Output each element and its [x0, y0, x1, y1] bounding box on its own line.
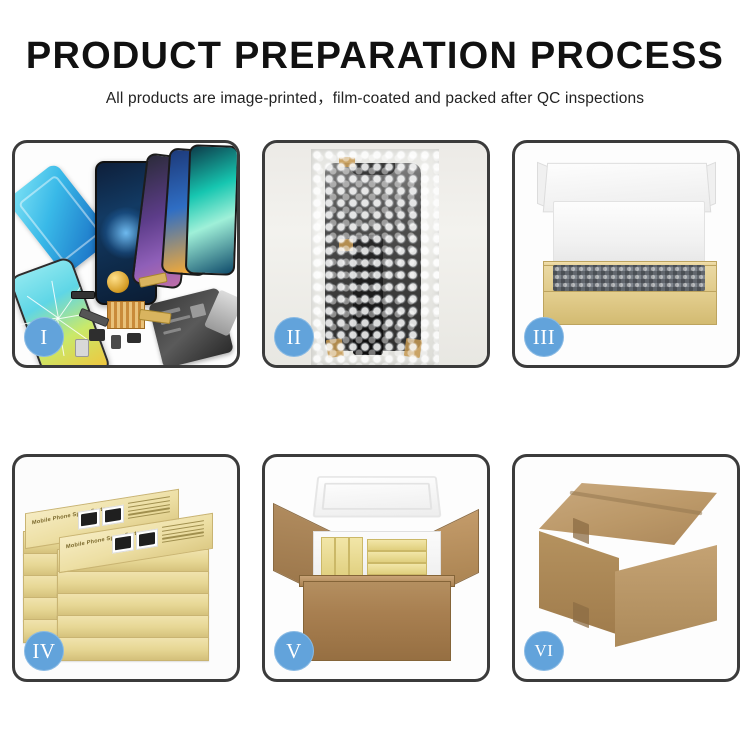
box-label-swatch — [112, 532, 134, 553]
speaker-coil-icon — [107, 271, 129, 293]
yellow-box-item — [367, 539, 427, 551]
small-part-icon — [89, 329, 105, 341]
step-panel-4: Mobile Phone Spare Parts — [12, 454, 240, 682]
page-subtitle: All products are image-printed，film-coat… — [0, 86, 750, 108]
battery-part-icon — [75, 339, 89, 357]
step-badge-2: II — [274, 317, 314, 357]
yellow-box-item — [349, 537, 363, 579]
small-part-icon — [127, 333, 141, 343]
kraft-box-front-icon — [543, 291, 717, 325]
steps-row-bottom: Mobile Phone Spare Parts — [12, 454, 742, 682]
stacked-box — [57, 593, 209, 617]
flex-cable-icon — [71, 291, 95, 299]
foam-lid-icon — [312, 476, 441, 517]
step-badge-1: I — [24, 317, 64, 357]
stacked-box — [57, 637, 209, 661]
bubble-texture-icon — [311, 149, 439, 365]
step-panel-3: III — [512, 140, 740, 368]
step-badge-3: III — [524, 317, 564, 357]
step-badge-5: V — [274, 631, 314, 671]
carton-right-face-icon — [615, 545, 717, 647]
step-panel-1: I — [12, 140, 240, 368]
box-label-swatch — [78, 508, 100, 529]
phone-teal-icon — [185, 144, 237, 276]
step-panel-2: II — [262, 140, 490, 368]
step-panel-6: VI — [512, 454, 740, 682]
box-label-lines — [162, 520, 204, 549]
step-panel-5: V — [262, 454, 490, 682]
box-label-swatch — [136, 529, 158, 550]
yellow-box-item — [335, 537, 349, 579]
small-part-icon — [111, 335, 121, 349]
yellow-box-item — [321, 537, 335, 579]
box-label-swatch — [102, 505, 124, 526]
yellow-box-item — [367, 563, 427, 575]
header: PRODUCT PREPARATION PROCESS All products… — [0, 34, 750, 108]
page-title: PRODUCT PREPARATION PROCESS — [0, 34, 750, 78]
product-preparation-infographic: PRODUCT PREPARATION PROCESS All products… — [0, 0, 750, 750]
stacked-box — [57, 615, 209, 639]
crack-lines-icon — [58, 318, 59, 319]
step-badge-6: VI — [524, 631, 564, 671]
carton-seam-icon — [569, 487, 703, 533]
carton-body-icon — [303, 581, 451, 661]
yellow-box-item — [367, 551, 427, 563]
stacked-box — [57, 571, 209, 595]
steps-grid: I II — [12, 140, 742, 682]
steps-row-top: I II — [12, 140, 742, 368]
bubble-wrap-inside-icon — [553, 265, 705, 291]
step-badge-4: IV — [24, 631, 64, 671]
